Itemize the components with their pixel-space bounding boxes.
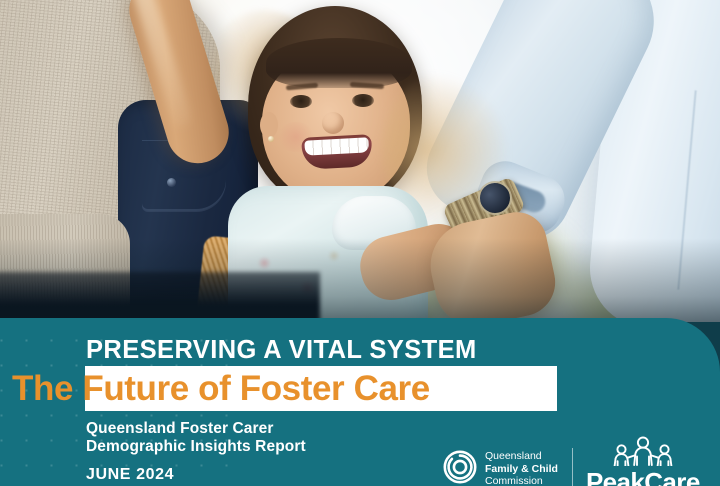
cover-subtitle-line2: Demographic Insights Report	[86, 438, 306, 456]
three-family-figures-icon	[606, 436, 680, 471]
qfcc-line3: Commission	[485, 475, 558, 486]
cover-subtitle: Queensland Foster Carer Demographic Insi…	[86, 420, 306, 456]
peakcare-wordmark: PeakCare	[586, 469, 700, 486]
cover-subtitle-line1: Queensland Foster Carer	[86, 420, 306, 438]
qfcc-line1: Queensland	[485, 450, 558, 463]
title-band-content: PRESERVING A VITAL SYSTEM The Future of …	[0, 318, 720, 486]
logo-divider	[572, 448, 573, 486]
qfcc-logo-text: Queensland Family & Child Commission	[485, 450, 558, 486]
cover-photo	[0, 0, 720, 322]
report-cover: PRESERVING A VITAL SYSTEM The Future of …	[0, 0, 720, 486]
cover-date: JUNE 2024	[86, 466, 174, 484]
logo-row: Queensland Family & Child Commission	[443, 436, 700, 486]
peakcare-logo: PeakCare Children | Young People | Futur…	[586, 436, 700, 486]
title-band: PRESERVING A VITAL SYSTEM The Future of …	[0, 318, 720, 486]
photo-vignette-overlay	[0, 0, 720, 322]
circle-spiral-icon	[443, 450, 477, 486]
cover-kicker: PRESERVING A VITAL SYSTEM	[86, 336, 477, 365]
page-title: The Future of Foster Care	[12, 367, 430, 410]
qfcc-line2: Family & Child	[485, 463, 558, 476]
qfcc-logo: Queensland Family & Child Commission	[443, 450, 558, 486]
